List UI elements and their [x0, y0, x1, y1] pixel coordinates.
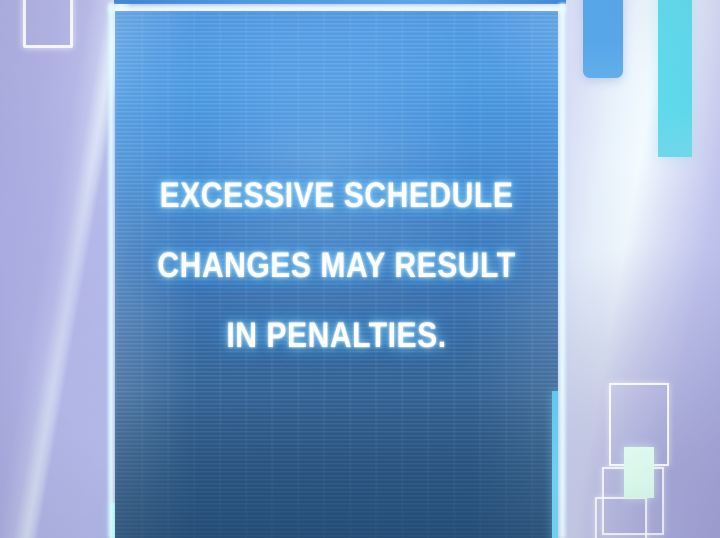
- main-panel-wrapper: EXCESSIVE SCHEDULE CHANGES MAY RESULT IN…: [108, 3, 566, 538]
- panel-glow-right-edge: [558, 3, 567, 538]
- decor-cyan-vertical-bar-top-right: [658, 0, 692, 157]
- headline-line-3: IN PENALTIES.: [146, 301, 527, 371]
- headline-text: EXCESSIVE SCHEDULE CHANGES MAY RESULT IN…: [146, 161, 527, 371]
- decor-outlined-rect-bottom-right-3: [595, 497, 647, 538]
- main-panel: EXCESSIVE SCHEDULE CHANGES MAY RESULT IN…: [115, 11, 558, 538]
- decor-outlined-square-top-left: [23, 0, 73, 48]
- decor-blue-rounded-bar-top-right: [583, 0, 623, 78]
- decor-cyan-inner-accent-bar: [552, 391, 558, 538]
- panel-glow-left-edge: [107, 3, 115, 538]
- slide-canvas: EXCESSIVE SCHEDULE CHANGES MAY RESULT IN…: [0, 0, 720, 538]
- headline-line-2: CHANGES MAY RESULT: [146, 231, 527, 301]
- headline-line-1: EXCESSIVE SCHEDULE: [146, 161, 527, 231]
- panel-top-strip: [114, 0, 566, 4]
- decor-mint-filled-rect-bottom-right: [624, 447, 654, 498]
- panel-bottom-shading: [115, 391, 558, 538]
